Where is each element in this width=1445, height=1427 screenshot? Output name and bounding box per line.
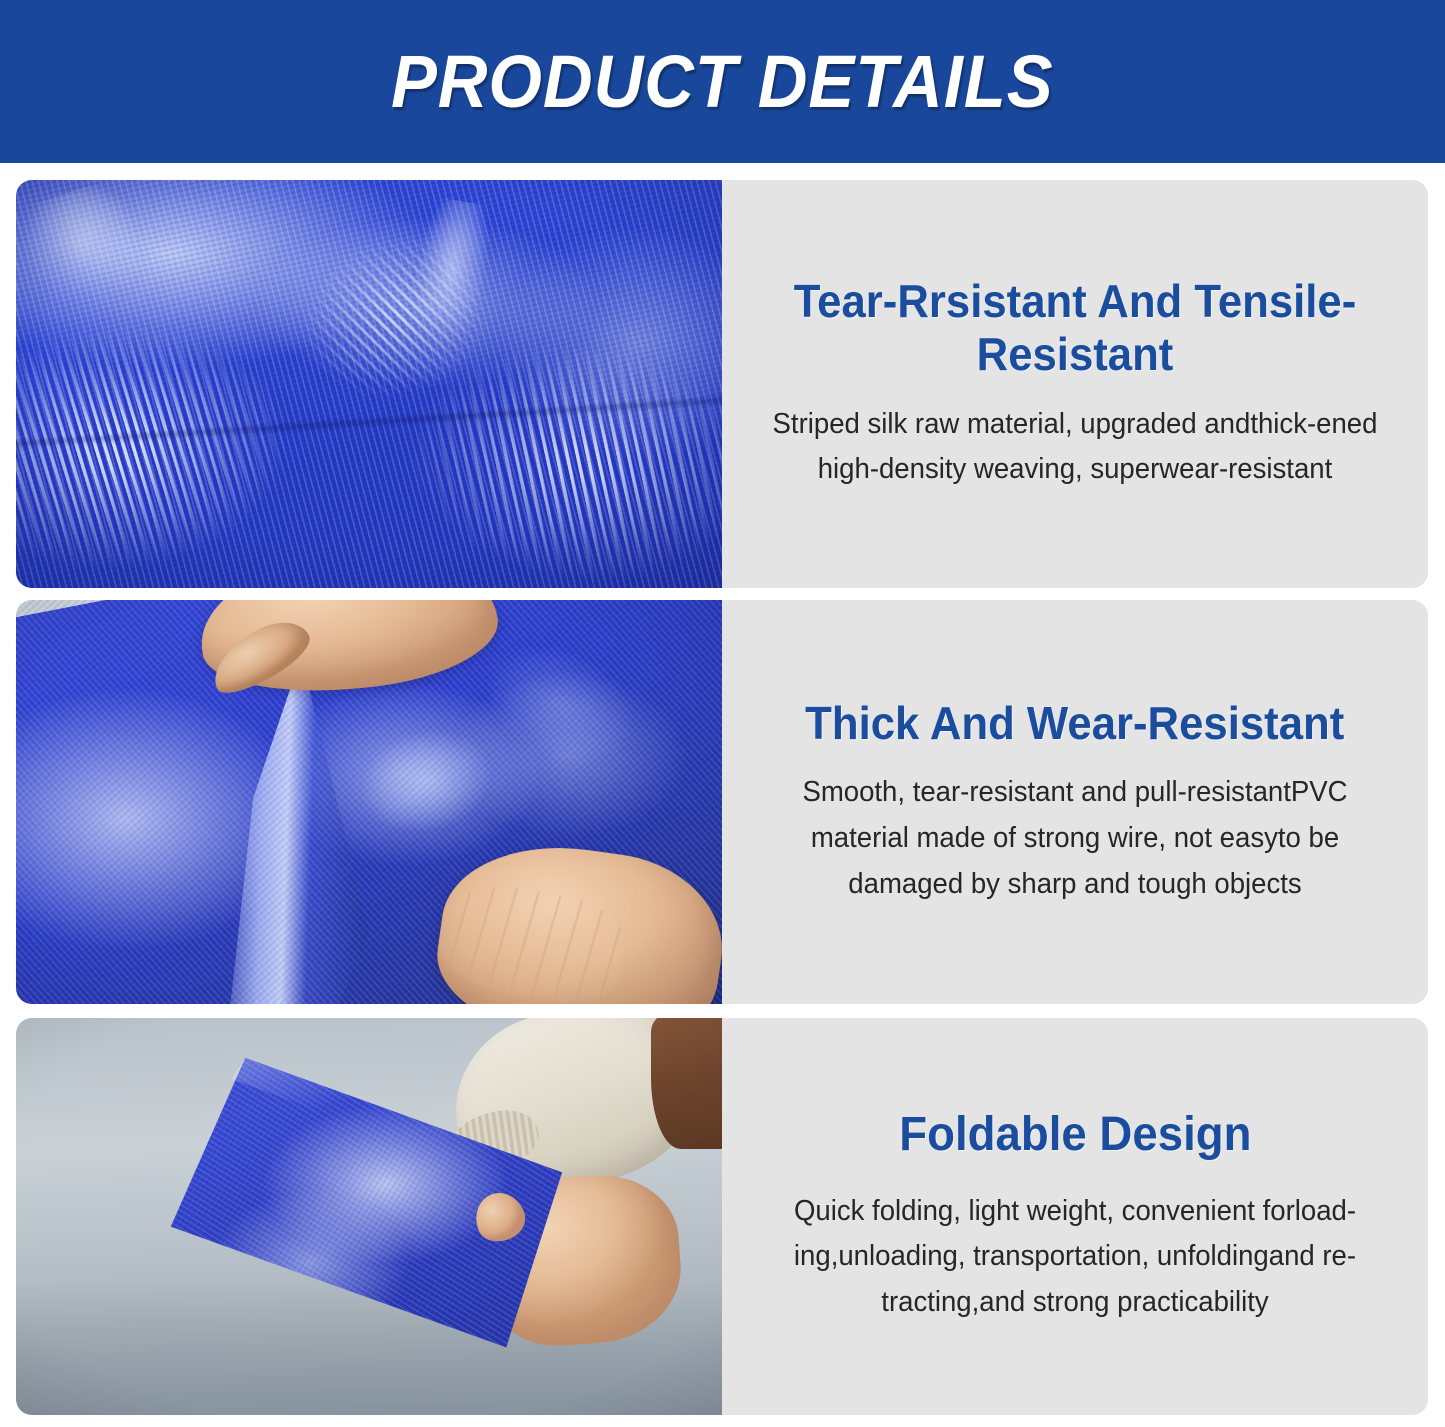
product-details-banner: PRODUCT DETAILS — [0, 0, 1445, 163]
feature-text-foldable-design: Foldable Design Quick folding, light wei… — [722, 1018, 1428, 1415]
feature-card-foldable-design: Foldable Design Quick folding, light wei… — [16, 1018, 1428, 1415]
photo-vignette — [16, 180, 722, 588]
feature-description: Striped silk raw material, upgraded andt… — [771, 402, 1379, 494]
feature-image-tear-resistant — [16, 180, 722, 588]
feature-title: Tear-Rrsistant And Tensile-Resistant — [766, 275, 1384, 382]
feature-text-tear-resistant: Tear-Rrsistant And Tensile-Resistant Str… — [722, 180, 1428, 588]
photo-vignette — [16, 1018, 722, 1415]
photo-vignette — [16, 600, 722, 1004]
page-title: PRODUCT DETAILS — [391, 39, 1054, 124]
feature-card-tear-resistant: Tear-Rrsistant And Tensile-Resistant Str… — [16, 180, 1428, 588]
feature-image-foldable-design — [16, 1018, 722, 1415]
feature-image-thick-wear-resistant — [16, 600, 722, 1004]
feature-title: Foldable Design — [899, 1107, 1251, 1163]
feature-card-thick-wear-resistant: Thick And Wear-Resistant Smooth, tear-re… — [16, 600, 1428, 1004]
feature-title: Thick And Wear-Resistant — [805, 697, 1344, 750]
feature-description: Quick folding, light weight, convenient … — [771, 1189, 1379, 1326]
feature-description: Smooth, tear-resistant and pull-resistan… — [771, 770, 1379, 907]
feature-text-thick-wear-resistant: Thick And Wear-Resistant Smooth, tear-re… — [722, 600, 1428, 1004]
